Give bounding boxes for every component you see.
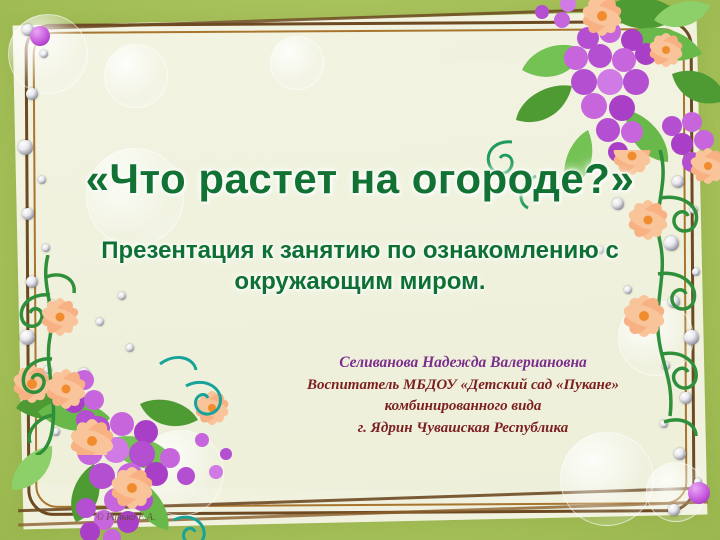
- author-credits-block: Селиванова Надежда Валериановна Воспитат…: [258, 352, 668, 439]
- slide-subtitle: Презентация к занятию по ознакомлению с …: [60, 236, 660, 297]
- subtitle-line-2: окружающим миром.: [234, 268, 485, 295]
- copyright-notice: © Ранько Е.А.: [96, 512, 155, 523]
- author-position: Воспитатель МБДОУ «Детский сад «Пукане»: [258, 375, 668, 396]
- slide-title: «Что растет на огороде?»: [0, 155, 720, 203]
- author-location: г. Ядрин Чувашская Республика: [258, 418, 668, 439]
- author-name: Селиванова Надежда Валериановна: [258, 352, 668, 374]
- slide-text-layer: «Что растет на огороде?» Презентация к з…: [0, 0, 720, 540]
- subtitle-line-1: Презентация к занятию по ознакомлению с: [101, 237, 619, 264]
- author-institution-type: комбинированного вида: [258, 396, 668, 417]
- presentation-slide: «Что растет на огороде?» Презентация к з…: [0, 0, 720, 540]
